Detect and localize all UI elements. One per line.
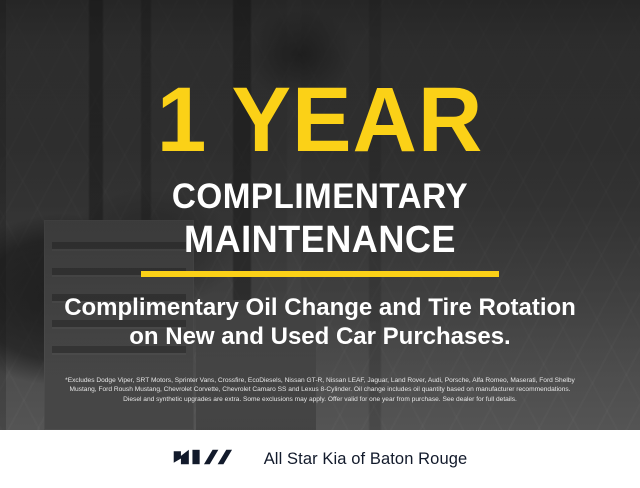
offer-description-line-2: on New and Used Car Purchases. bbox=[0, 322, 640, 351]
subheadline-complimentary: COMPLIMENTARY bbox=[16, 179, 624, 214]
dealer-footer: All Star Kia of Baton Rouge bbox=[0, 430, 640, 488]
headline-one-year: 1 YEAR bbox=[10, 74, 631, 166]
offer-description: Complimentary Oil Change and Tire Rotati… bbox=[0, 293, 640, 351]
offer-description-line-1: Complimentary Oil Change and Tire Rotati… bbox=[0, 293, 640, 322]
yellow-divider-rule bbox=[141, 271, 499, 277]
promo-ad-banner: 1 YEAR COMPLIMENTARY MAINTENANCE Complim… bbox=[0, 0, 640, 488]
disclaimer-line-2: Mustang, Ford Roush Mustang, Chevrolet C… bbox=[14, 385, 626, 394]
disclaimer-line-3: Diesel and synthetic upgrades are extra.… bbox=[14, 395, 626, 404]
ad-content: 1 YEAR COMPLIMENTARY MAINTENANCE Complim… bbox=[0, 0, 640, 488]
dealer-name-label: All Star Kia of Baton Rouge bbox=[264, 450, 468, 469]
disclaimer-fine-print: *Excludes Dodge Viper, SRT Motors, Sprin… bbox=[14, 376, 626, 404]
subheadline-maintenance: MAINTENANCE bbox=[16, 221, 624, 259]
kia-logo-icon bbox=[173, 446, 245, 473]
disclaimer-line-1: *Excludes Dodge Viper, SRT Motors, Sprin… bbox=[14, 376, 626, 385]
